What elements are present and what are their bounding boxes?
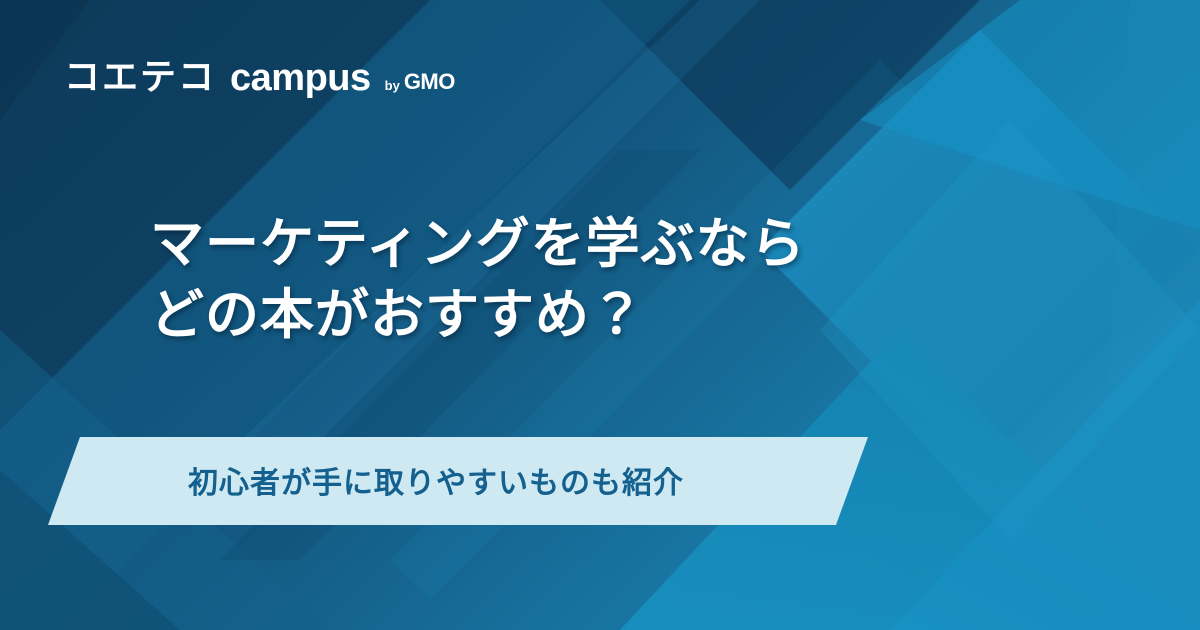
- article-thumbnail-card: コエテコ campus by GMO マーケティングを学ぶなら どの本がおすすめ…: [0, 0, 1200, 630]
- headline-line-1: マーケティングを学ぶなら: [150, 208, 806, 279]
- site-logo[interactable]: コエテコ campus by GMO: [64, 58, 455, 96]
- headline: マーケティングを学ぶなら どの本がおすすめ？: [150, 208, 806, 351]
- logo-by-label: by: [385, 79, 400, 92]
- logo-by-gmo: by GMO: [385, 71, 455, 93]
- logo-parent-brand: GMO: [404, 71, 455, 93]
- logo-brand-en: campus: [230, 59, 371, 97]
- logo-brand-jp: コエテコ: [64, 60, 216, 96]
- headline-line-2: どの本がおすすめ？: [150, 279, 806, 350]
- subtitle-text: 初心者が手に取りやすいものも紹介: [188, 434, 684, 526]
- subtitle-banner: 初心者が手に取りやすいものも紹介: [0, 434, 1200, 530]
